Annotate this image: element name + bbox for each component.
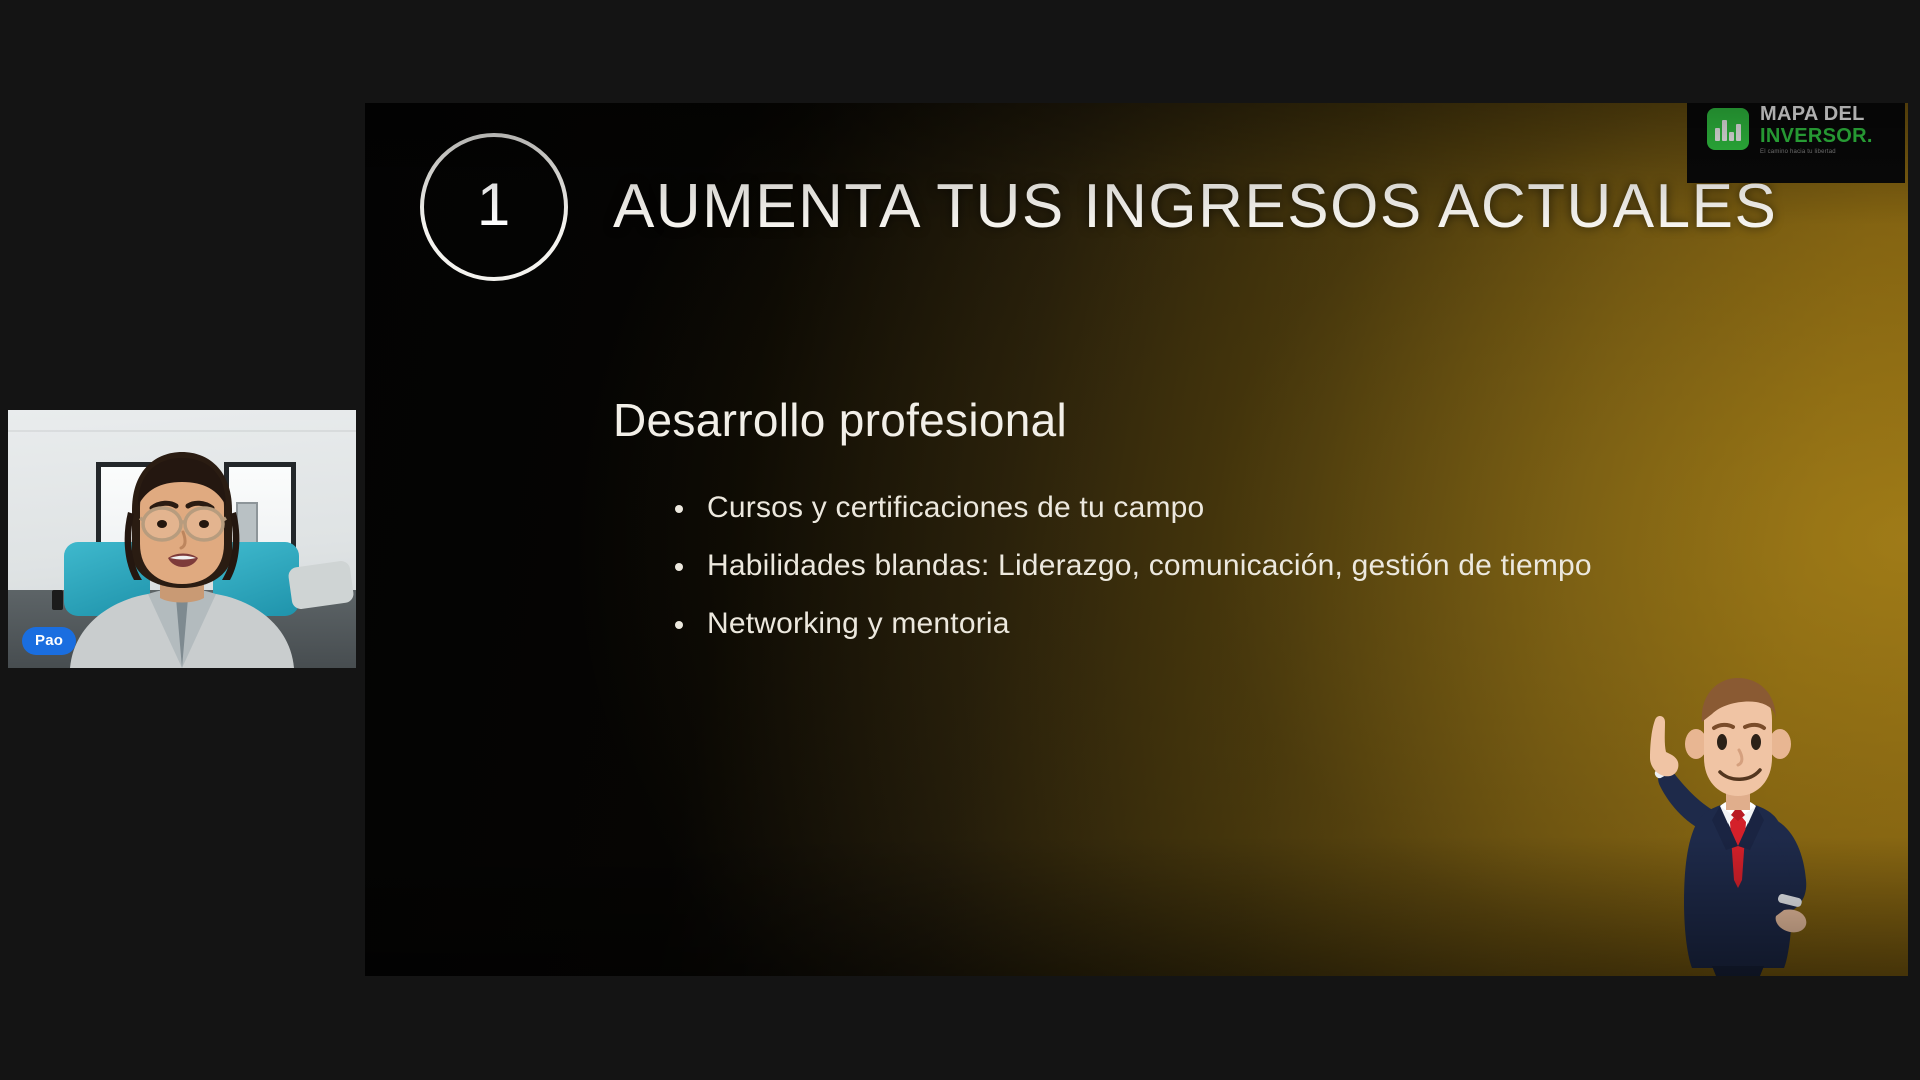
slide-bullet-list: Cursos y certificaciones de tu campo Hab… (675, 493, 1592, 667)
cartoon-businessman-illustration (1608, 666, 1868, 976)
slide-subtitle: Desarrollo profesional (613, 393, 1067, 447)
bar-chart-icon (1707, 108, 1749, 150)
list-item: Cursos y certificaciones de tu campo (675, 493, 1592, 523)
slide-step-number: 1 (420, 133, 568, 281)
shared-slide[interactable]: 1 AUMENTA TUS INGRESOS ACTUALES Desarrol… (365, 103, 1908, 976)
participant-name-badge: Pao (22, 627, 76, 655)
list-item: Networking y mentoria (675, 609, 1592, 639)
brand-name-line1: MAPA DEL (1760, 104, 1873, 124)
list-item: Habilidades blandas: Liderazgo, comunica… (675, 551, 1592, 581)
slide-title: AUMENTA TUS INGRESOS ACTUALES (613, 171, 1777, 242)
participant-video-tile[interactable]: Pao (8, 410, 356, 668)
brand-name-line2: INVERSOR. (1760, 126, 1873, 146)
brand-tagline: El camino hacia tu libertad (1760, 149, 1873, 155)
slide-step-number-value: 1 (477, 175, 511, 235)
meeting-screen: 1 AUMENTA TUS INGRESOS ACTUALES Desarrol… (0, 0, 1920, 1080)
brand-logo: MAPA DEL INVERSOR. El camino hacia tu li… (1687, 103, 1905, 183)
ceiling-line (8, 430, 356, 432)
